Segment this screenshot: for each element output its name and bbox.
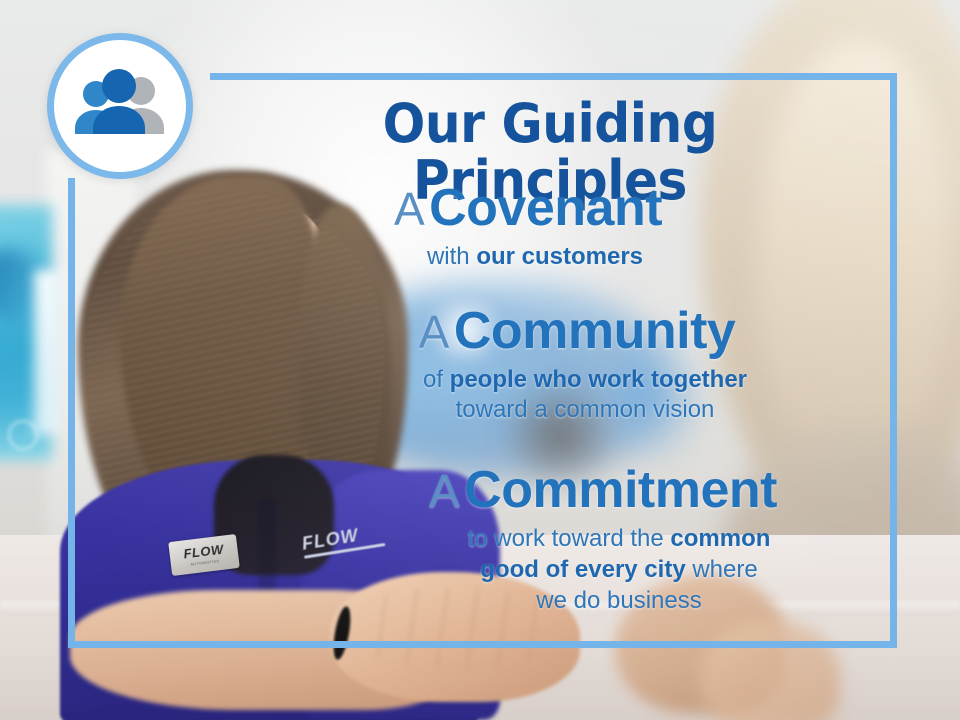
- customer-hands-secondary: [700, 620, 840, 720]
- subtext-run-bold: people who work together: [450, 366, 747, 393]
- principle-word: Community: [454, 302, 736, 360]
- principle-heading: A Covenant: [200, 182, 890, 234]
- principle-article: A: [429, 465, 460, 517]
- subtext-run: we do business: [536, 587, 701, 614]
- principle-heading: A Commitment: [200, 464, 890, 516]
- principle-subtext-line: of people who work together: [280, 365, 890, 396]
- principle-word: Covenant: [429, 179, 662, 237]
- subtext-run: to work toward the: [468, 525, 671, 552]
- principle-article: A: [394, 183, 425, 235]
- vw-logo-icon: [8, 420, 38, 450]
- people-group-icon: [68, 68, 172, 144]
- subtext-run: where: [686, 556, 758, 583]
- principle-subtext-line: to work toward the common: [348, 524, 890, 555]
- subtext-run-bold: good of every city: [480, 556, 685, 583]
- subtext-run: of: [423, 366, 450, 393]
- principle-heading: A Community: [200, 305, 890, 357]
- principle-article: A: [419, 306, 450, 358]
- principle-subtext-line: we do business: [348, 586, 890, 617]
- principle-subtext-line: toward a common vision: [280, 395, 890, 426]
- banner-highlight: [34, 270, 60, 435]
- principle-community: A Community of people who work together …: [200, 305, 890, 426]
- subtext-run-bold: our customers: [476, 243, 643, 270]
- principle-word: Commitment: [464, 461, 777, 519]
- principle-subtext: to work toward the common good of every …: [200, 524, 890, 616]
- principle-subtext: with our customers: [200, 242, 890, 273]
- principle-covenant: A Covenant with our customers: [200, 182, 890, 273]
- principle-commitment: A Commitment to work toward the common g…: [200, 464, 890, 616]
- poster-root: FLOW AUTOMOTIVE FLOW: [0, 0, 960, 720]
- subtext-run: with: [427, 243, 476, 270]
- principle-subtext-line: with our customers: [200, 242, 870, 273]
- principles-list: A Covenant with our customers A Communit…: [200, 182, 890, 626]
- principle-subtext-line: good of every city where: [348, 555, 890, 586]
- people-group-badge: [47, 33, 193, 179]
- subtext-run: toward a common vision: [456, 396, 715, 423]
- principle-subtext: of people who work together toward a com…: [200, 365, 890, 426]
- subtext-run-bold: common: [670, 525, 770, 552]
